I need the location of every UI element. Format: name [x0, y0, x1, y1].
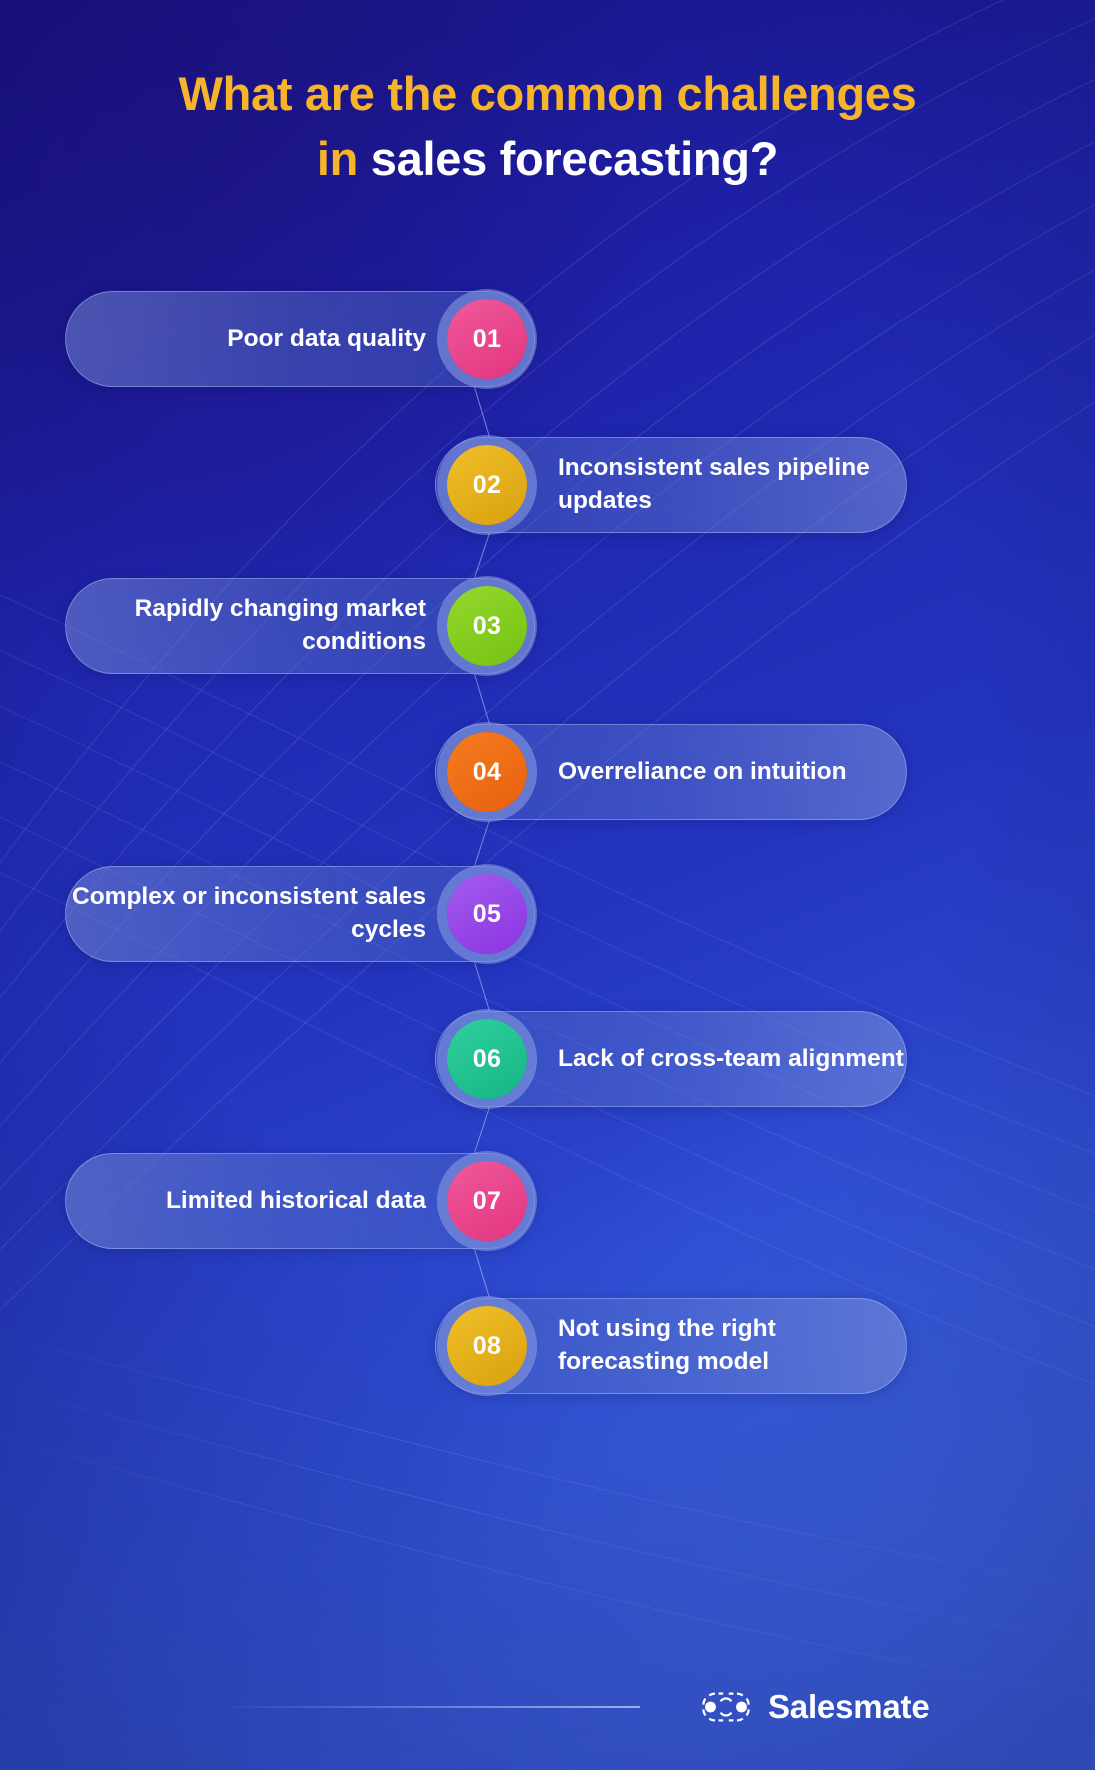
challenge-number-badge-06: 06 — [447, 1019, 527, 1099]
connector-line — [474, 387, 490, 437]
challenge-label: Complex or inconsistent sales cycles — [66, 881, 426, 946]
challenge-number-badge-01: 01 — [447, 299, 527, 379]
challenge-label: Limited historical data — [166, 1185, 426, 1218]
challenge-number: 02 — [473, 471, 502, 500]
challenge-number: 05 — [473, 900, 502, 929]
title-line-2-gold: in — [317, 132, 358, 185]
challenge-number-badge-05: 05 — [447, 874, 527, 954]
challenge-number: 04 — [473, 758, 502, 787]
challenge-number-badge-03: 03 — [447, 586, 527, 666]
challenge-label: Rapidly changing market conditions — [66, 593, 426, 658]
challenge-row: Complex or inconsistent sales cycles05 — [65, 866, 535, 962]
challenge-number: 08 — [473, 1332, 502, 1361]
challenge-number-badge-04: 04 — [447, 732, 527, 812]
challenge-label: Lack of cross-team alignment — [558, 1043, 904, 1076]
challenge-number-badge-08: 08 — [447, 1306, 527, 1386]
page-title: What are the common challenges in sales … — [0, 62, 1095, 192]
challenge-number: 03 — [473, 612, 502, 641]
challenge-row: Poor data quality01 — [65, 291, 535, 387]
challenge-number-badge-07: 07 — [447, 1161, 527, 1241]
connector-line — [474, 820, 490, 866]
title-line-2: in sales forecasting? — [0, 127, 1095, 192]
footer-divider — [215, 1706, 640, 1708]
connector-line — [474, 674, 490, 724]
challenge-row: Not using the right forecasting model08 — [435, 1298, 907, 1394]
challenge-row: Overreliance on intuition04 — [435, 724, 907, 820]
challenge-number: 06 — [473, 1045, 502, 1074]
challenge-number-badge-02: 02 — [447, 445, 527, 525]
brand-logo[interactable]: Salesmate — [698, 1688, 929, 1726]
salesmate-logo-mark — [698, 1689, 754, 1725]
footer: Salesmate — [0, 1688, 1095, 1726]
challenge-row: Lack of cross-team alignment06 — [435, 1011, 907, 1107]
challenge-label: Overreliance on intuition — [558, 756, 847, 789]
challenge-label: Not using the right forecasting model — [558, 1313, 906, 1378]
brand-name: Salesmate — [768, 1688, 929, 1726]
challenge-number: 01 — [473, 325, 502, 354]
challenge-number: 07 — [473, 1187, 502, 1216]
title-line-1-text: What are the common challenges — [179, 67, 917, 120]
challenge-row: Inconsistent sales pipeline updates02 — [435, 437, 907, 533]
challenge-label: Poor data quality — [227, 323, 426, 356]
connector-line — [474, 962, 490, 1011]
challenge-row: Rapidly changing market conditions03 — [65, 578, 535, 674]
challenge-label: Inconsistent sales pipeline updates — [558, 452, 906, 517]
title-line-2-white: sales forecasting? — [371, 132, 778, 185]
connector-line — [474, 1249, 490, 1298]
connector-line — [474, 533, 490, 578]
connector-line — [474, 1107, 490, 1153]
challenge-row: Limited historical data07 — [65, 1153, 535, 1249]
title-line-1: What are the common challenges — [0, 62, 1095, 127]
